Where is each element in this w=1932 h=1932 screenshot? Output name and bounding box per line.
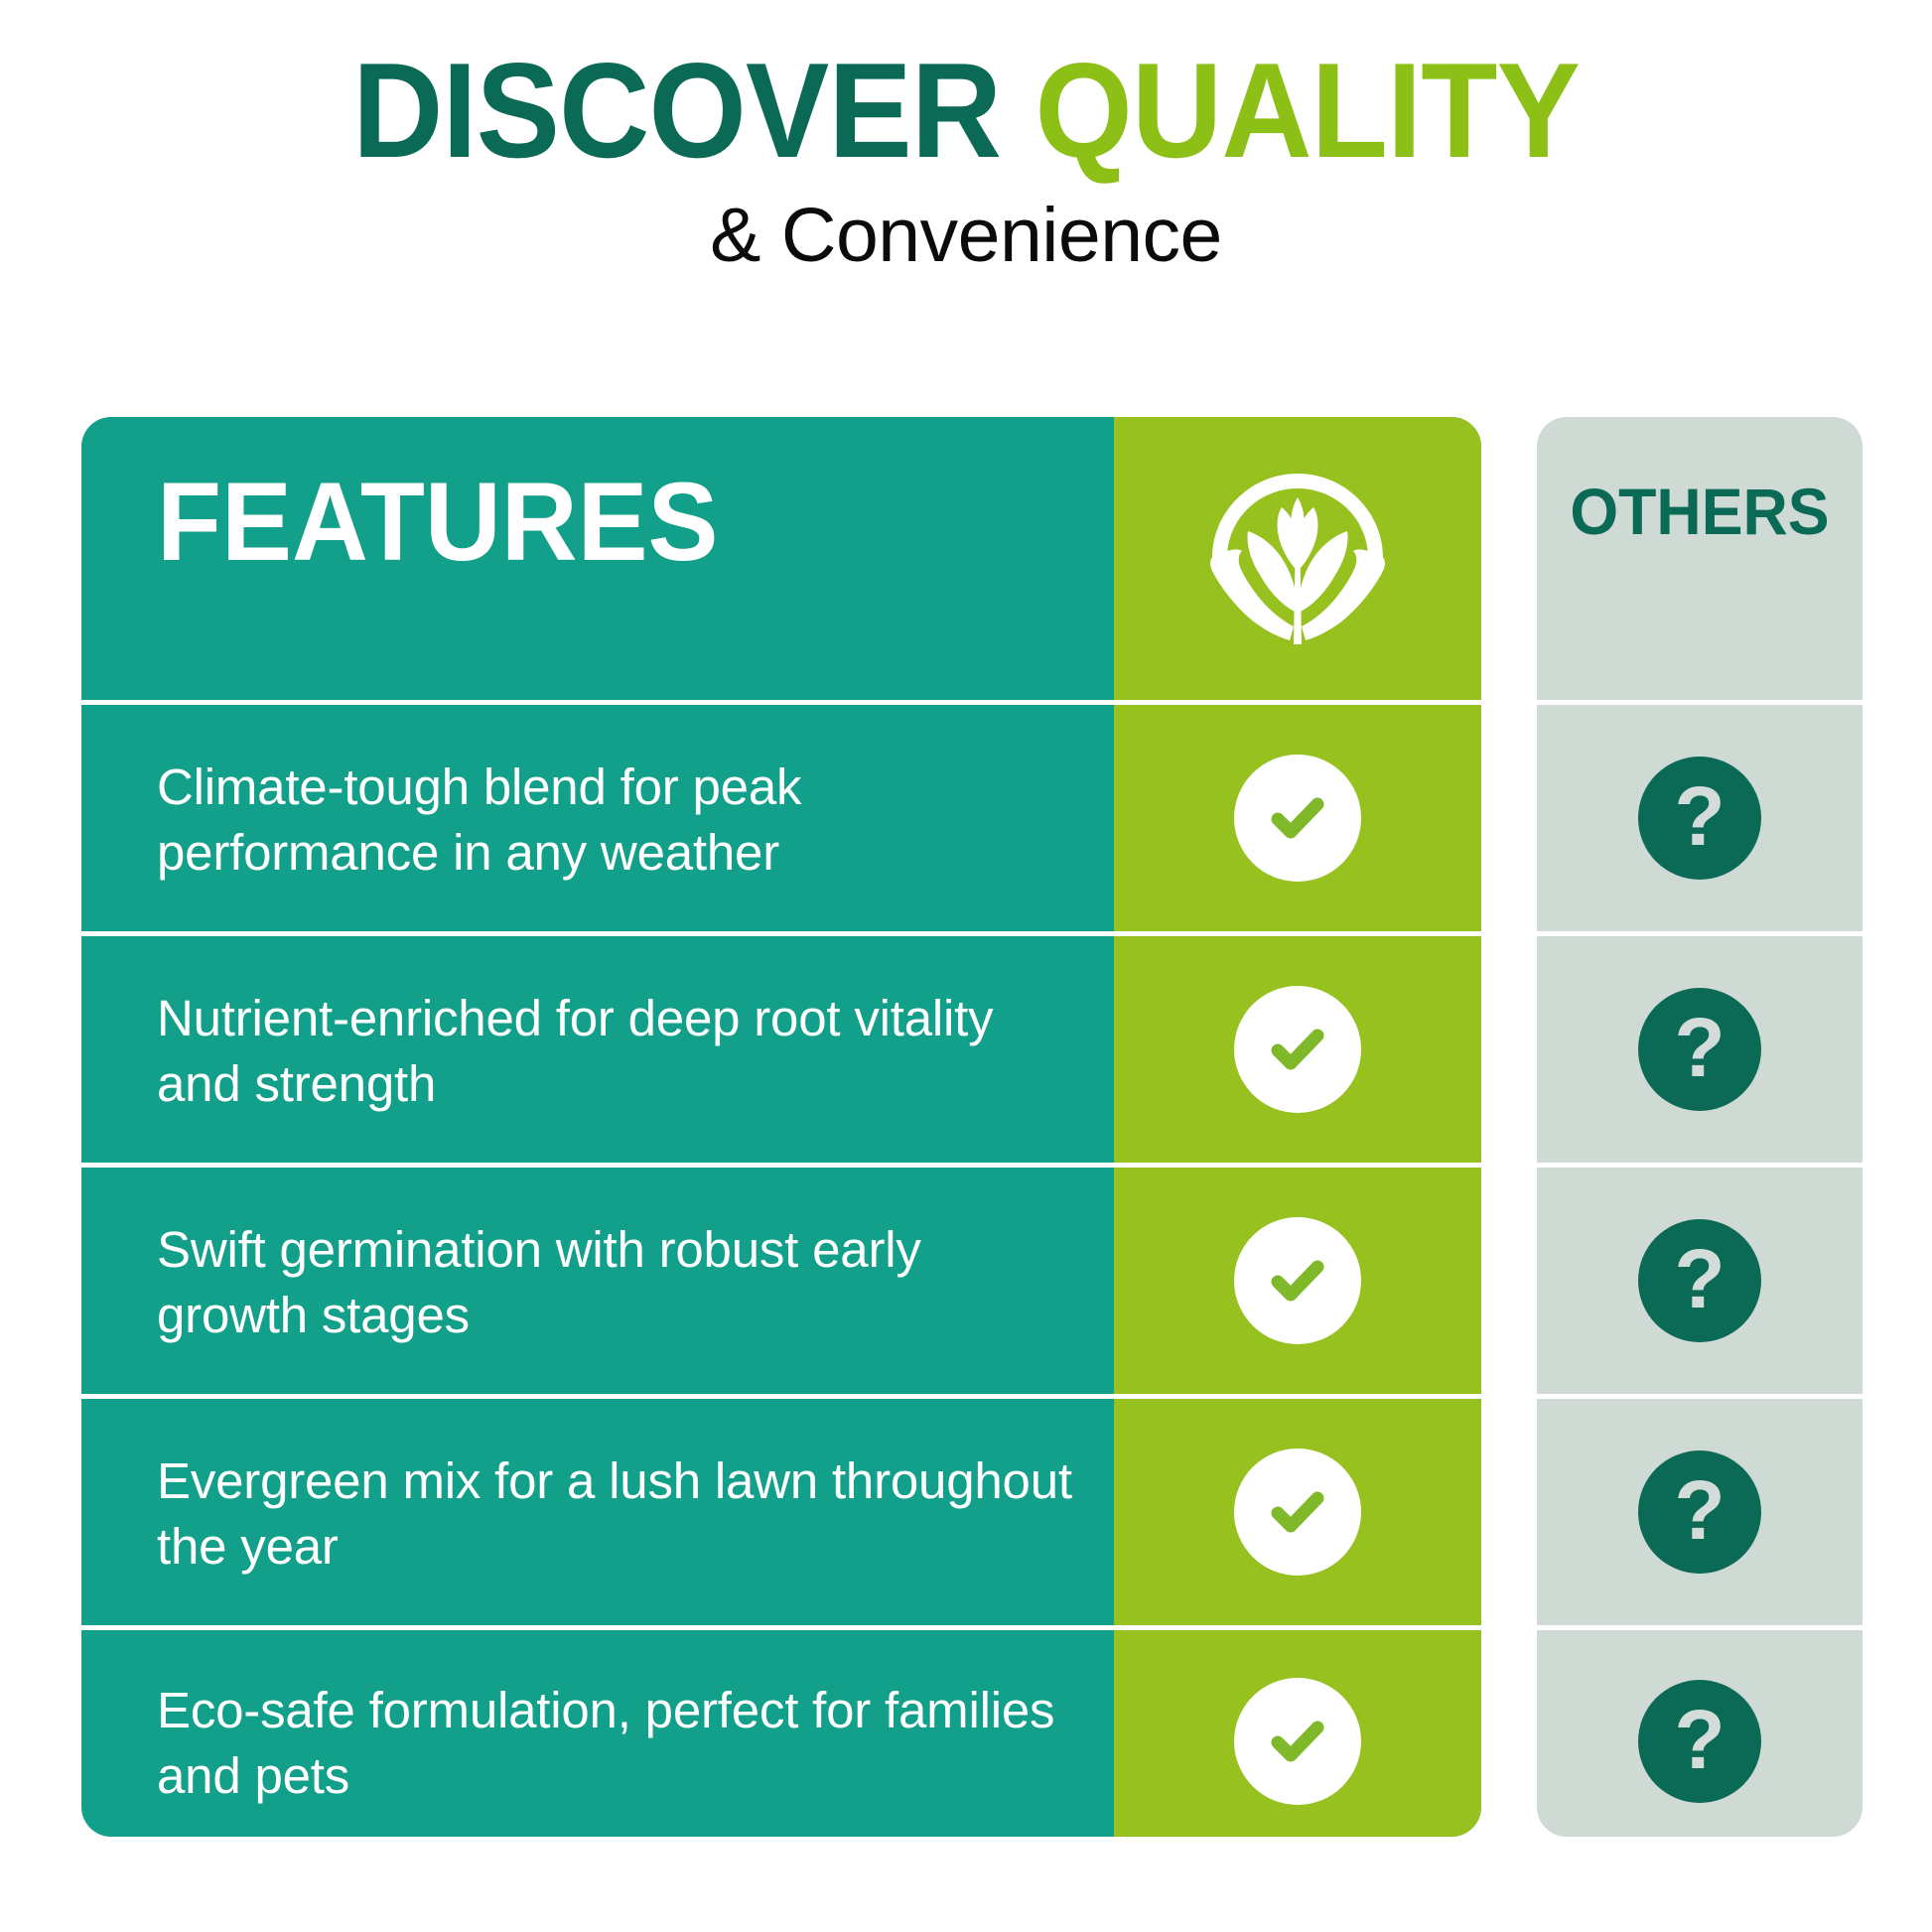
others-row: ? — [1537, 1168, 1863, 1394]
table-header-row: FEATURES — [81, 417, 1481, 700]
check-icon — [1262, 1706, 1333, 1777]
brand-logo — [1114, 417, 1481, 700]
check-badge — [1234, 1449, 1361, 1576]
brand-cell — [1114, 1630, 1481, 1837]
others-header-label: OTHERS — [1545, 479, 1855, 544]
check-icon — [1262, 782, 1333, 854]
features-header-label: FEATURES — [157, 467, 719, 578]
question-mark-label: ? — [1674, 1698, 1725, 1781]
question-mark-label: ? — [1674, 1237, 1725, 1320]
feature-text: Eco-safe formulation, perfect for famili… — [157, 1678, 1080, 1810]
check-icon — [1262, 1245, 1333, 1316]
others-row: ? — [1537, 936, 1863, 1163]
brand-cell — [1114, 1168, 1481, 1394]
page-subtitle: & Convenience — [0, 198, 1932, 274]
table-row: Evergreen mix for a lush lawn throughout… — [81, 1399, 1481, 1625]
question-mark-label: ? — [1674, 774, 1725, 858]
table-row: Climate-tough blend for peak performance… — [81, 705, 1481, 931]
page-title: DISCOVER QUALITY — [68, 42, 1864, 180]
question-badge: ? — [1638, 757, 1761, 880]
check-badge — [1234, 755, 1361, 882]
page-title-discover: DISCOVER — [352, 35, 1035, 186]
others-comparison-card: OTHERS ? ? ? ? ? — [1537, 417, 1863, 1837]
page-title-quality: QUALITY — [1035, 35, 1580, 186]
feature-text: Evergreen mix for a lush lawn throughout… — [157, 1449, 1080, 1581]
question-badge: ? — [1638, 1680, 1761, 1803]
check-badge — [1234, 1217, 1361, 1344]
comparison-table: FEATURES — [0, 417, 1932, 1837]
table-row: Swift germination with robust early grow… — [81, 1168, 1481, 1394]
brand-cell — [1114, 936, 1481, 1163]
question-mark-label: ? — [1674, 1006, 1725, 1089]
others-row: ? — [1537, 1399, 1863, 1625]
question-badge: ? — [1638, 988, 1761, 1111]
question-badge: ? — [1638, 1219, 1761, 1342]
page-header: DISCOVER QUALITY & Convenience — [0, 0, 1932, 274]
feature-text: Swift germination with robust early grow… — [157, 1217, 1080, 1349]
table-row: Nutrient-enriched for deep root vitality… — [81, 936, 1481, 1163]
check-icon — [1262, 1476, 1333, 1548]
question-mark-label: ? — [1674, 1468, 1725, 1552]
table-row: Eco-safe formulation, perfect for famili… — [81, 1630, 1481, 1837]
brand-cell — [1114, 705, 1481, 931]
feature-text: Nutrient-enriched for deep root vitality… — [157, 986, 1080, 1118]
plant-in-hands-logo-icon — [1198, 460, 1397, 658]
check-badge — [1234, 1678, 1361, 1805]
feature-text: Climate-tough blend for peak performance… — [157, 755, 1080, 887]
check-badge — [1234, 986, 1361, 1113]
brand-comparison-card: FEATURES — [81, 417, 1481, 1837]
brand-cell — [1114, 1399, 1481, 1625]
check-icon — [1262, 1014, 1333, 1085]
others-row: ? — [1537, 1630, 1863, 1837]
question-badge: ? — [1638, 1450, 1761, 1574]
others-row: ? — [1537, 705, 1863, 931]
